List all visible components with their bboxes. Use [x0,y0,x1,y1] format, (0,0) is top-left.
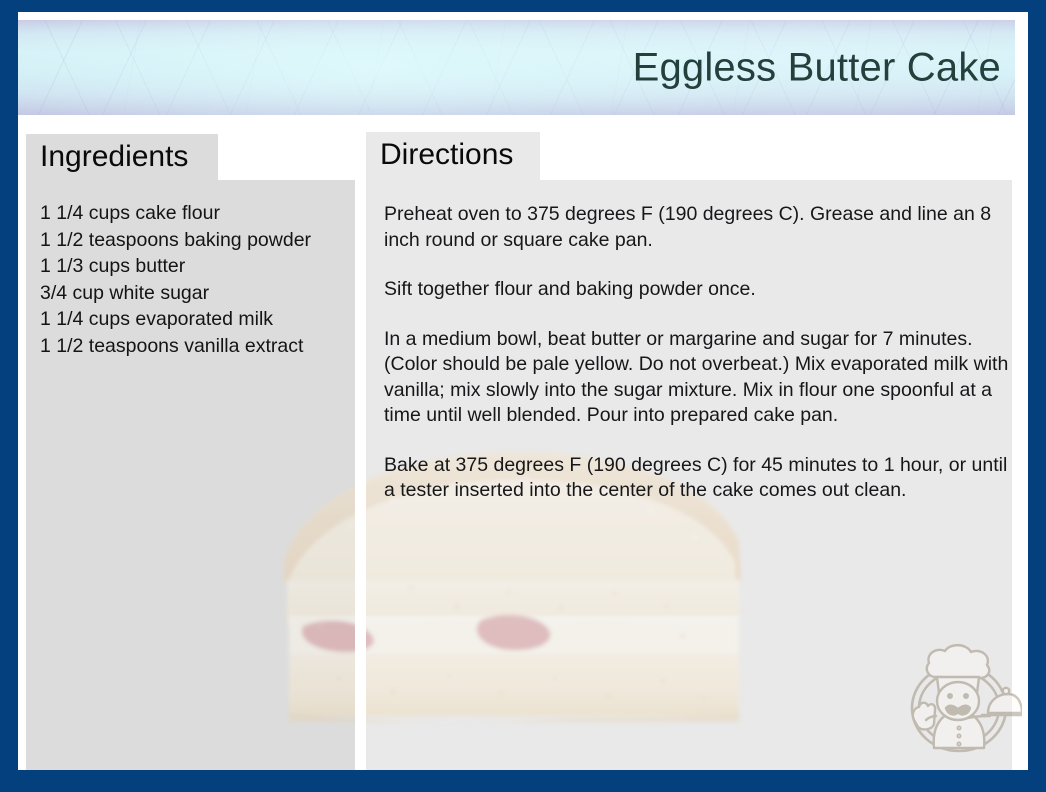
direction-step: Preheat oven to 375 degrees F (190 degre… [384,202,1014,253]
list-item: 3/4 cup white sugar [40,280,353,307]
list-item: 1 1/4 cups cake flour [40,200,353,227]
ingredients-list: 1 1/4 cups cake flour 1 1/2 teaspoons ba… [26,200,363,360]
header-banner: Eggless Butter Cake [18,20,1015,115]
directions-list: Preheat oven to 375 degrees F (190 degre… [366,202,1022,504]
ingredients-heading: Ingredients [26,134,218,180]
direction-step: Bake at 375 degrees F (190 degrees C) fo… [384,453,1014,504]
list-item: 1 1/2 teaspoons vanilla extract [40,333,353,360]
recipe-card: Eggless Butter Cake [0,0,1046,792]
direction-step: Sift together flour and baking powder on… [384,277,1014,303]
list-item: 1 1/4 cups evaporated milk [40,306,353,333]
card-inner-surface: Eggless Butter Cake [18,12,1028,770]
directions-heading: Directions [366,132,540,180]
list-item: 1 1/3 cups butter [40,253,353,280]
page-title: Eggless Butter Cake [633,45,1001,90]
list-item: 1 1/2 teaspoons baking powder [40,227,353,254]
direction-step: In a medium bowl, beat butter or margari… [384,327,1014,429]
